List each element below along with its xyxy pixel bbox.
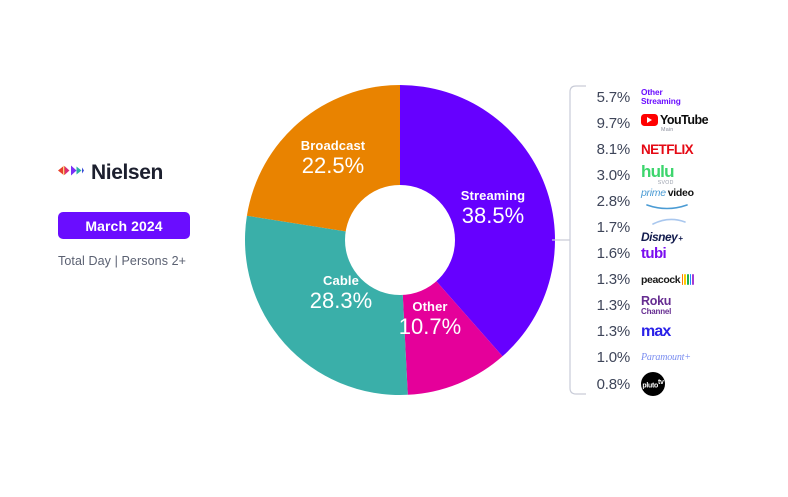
legend-pct: 9.7% <box>582 115 630 132</box>
legend-pct: 1.7% <box>582 219 630 236</box>
panel-subtitle: Total Day | Persons 2+ <box>58 254 238 268</box>
prime-video-logo: prime video <box>641 189 694 213</box>
nielsen-logo: Nielsen <box>58 160 238 186</box>
legend-pct: 1.3% <box>582 271 630 288</box>
legend-pct: 3.0% <box>582 167 630 184</box>
legend-pct: 0.8% <box>582 376 630 393</box>
legend-pct: 1.0% <box>582 349 630 366</box>
streaming-breakdown-legend: 5.7% Other Streaming 9.7% YouTube Main <box>582 84 732 397</box>
roku-sub: Channel <box>641 308 671 317</box>
tubi-wordmark: tubi <box>641 245 666 262</box>
legend-pct: 5.7% <box>582 89 630 106</box>
hulu-sub: SVOD <box>658 180 674 186</box>
peacock-wordmark: peacock <box>641 274 680 286</box>
legend-row-hulu: 3.0% hulu SVOD <box>582 162 732 188</box>
legend-row-roku-channel: 1.3% Roku Channel <box>582 293 732 319</box>
disney-plus-logo: Disney + <box>641 216 687 240</box>
legend-row-youtube: 9.7% YouTube Main <box>582 110 732 136</box>
donut-svg <box>242 82 558 398</box>
legend-row-tubi: 1.6% tubi <box>582 241 732 267</box>
roku-channel-logo: Roku Channel <box>641 294 671 318</box>
paramount-plus-logo: Paramount+ <box>641 346 691 370</box>
peacock-feathers-icon <box>682 274 694 285</box>
other-streaming-logo: Other Streaming <box>641 85 681 109</box>
other-streaming-line2: Streaming <box>641 96 681 106</box>
roku-wordmark: Roku <box>641 295 671 308</box>
legend-pct: 8.1% <box>582 141 630 158</box>
netflix-logo: NETFLIX <box>641 137 693 161</box>
disney-arc-icon <box>641 212 687 230</box>
legend-row-other-streaming: 5.7% Other Streaming <box>582 84 732 110</box>
legend-row-netflix: 8.1% NETFLIX <box>582 136 732 162</box>
infographic-canvas: Nielsen March 2024 Total Day | Persons 2… <box>0 0 788 497</box>
donut-hole <box>345 185 455 295</box>
legend-pct: 2.8% <box>582 193 630 210</box>
max-wordmark: max <box>641 323 670 341</box>
youtube-sub: Main <box>661 127 673 133</box>
pluto-tv-sub: tv <box>658 379 664 386</box>
nielsen-arrows-icon <box>58 163 84 183</box>
youtube-play-icon <box>641 114 658 126</box>
hulu-logo: hulu SVOD <box>641 163 674 187</box>
max-logo: max <box>641 320 670 344</box>
tubi-logo: tubi <box>641 242 666 266</box>
brand-panel: Nielsen March 2024 Total Day | Persons 2… <box>58 160 238 268</box>
youtube-logo: YouTube Main <box>641 111 708 135</box>
netflix-wordmark: NETFLIX <box>641 142 693 157</box>
period-label: March 2024 <box>85 218 162 234</box>
legend-row-paramount-plus: 1.0% Paramount+ <box>582 345 732 371</box>
paramount-wordmark: Paramount+ <box>641 352 691 363</box>
legend-row-max: 1.3% max <box>582 319 732 345</box>
youtube-wordmark: YouTube <box>660 113 708 127</box>
peacock-logo: peacock <box>641 268 694 292</box>
legend-row-disney-plus: 1.7% Disney + <box>582 214 732 240</box>
legend-pct: 1.6% <box>582 245 630 262</box>
disney-plus-sign: + <box>678 234 683 243</box>
legend-pct: 1.3% <box>582 297 630 314</box>
legend-row-peacock: 1.3% peacock <box>582 267 732 293</box>
hulu-wordmark: hulu <box>641 164 674 180</box>
pluto-wordmark: pluto <box>642 382 658 389</box>
legend-row-pluto-tv: 0.8% plutotv <box>582 371 732 397</box>
donut-chart: Streaming 38.5% Broadcast 22.5% Cable 28… <box>242 82 558 398</box>
nielsen-wordmark: Nielsen <box>91 161 163 185</box>
legend-pct: 1.3% <box>582 323 630 340</box>
period-badge: March 2024 <box>58 212 190 239</box>
pluto-tv-logo: plutotv <box>641 372 665 396</box>
